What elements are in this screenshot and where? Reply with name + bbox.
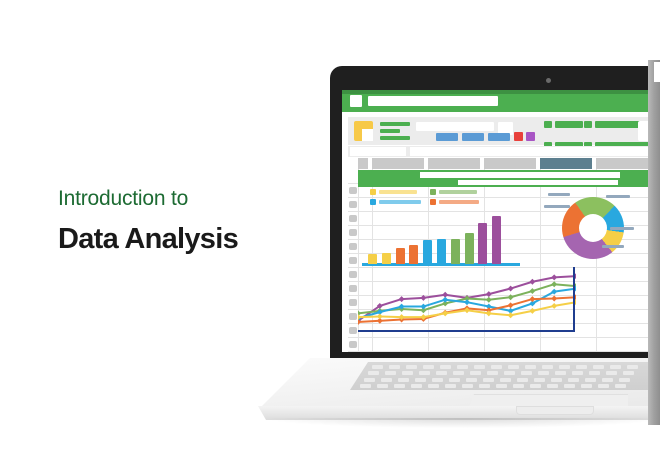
spreadsheet-app	[342, 90, 660, 352]
keyboard-key[interactable]	[517, 378, 528, 382]
keyboard-key[interactable]	[589, 371, 600, 375]
keyboard-key[interactable]	[538, 371, 549, 375]
bar	[409, 245, 418, 264]
right-crop-strip	[648, 60, 660, 425]
line-marker	[420, 295, 426, 301]
keyboard-key[interactable]	[496, 384, 507, 388]
sheet-title-text	[420, 172, 620, 178]
keyboard-key[interactable]	[470, 371, 481, 375]
keyboard-key[interactable]	[479, 384, 490, 388]
keyboard-key[interactable]	[436, 371, 447, 375]
right-crop-gap	[654, 62, 660, 82]
line-chart[interactable]	[358, 265, 578, 337]
line-marker	[486, 297, 492, 303]
keyboard-key[interactable]	[602, 378, 613, 382]
line-marker	[399, 296, 405, 302]
keyboard-key[interactable]	[419, 371, 430, 375]
keyboard-key[interactable]	[623, 371, 634, 375]
camera-dot-icon	[546, 78, 551, 83]
toolbar-chip-2[interactable]	[462, 133, 484, 141]
keyboard-key[interactable]	[627, 365, 638, 369]
legend-label	[379, 200, 421, 204]
line-marker	[529, 288, 535, 294]
keyboard-key[interactable]	[381, 378, 392, 382]
toolbar-swatch-red[interactable]	[514, 132, 523, 141]
bar-chart[interactable]	[362, 207, 522, 267]
keyboard-key[interactable]	[559, 365, 570, 369]
keyboard-key[interactable]	[445, 384, 456, 388]
line-marker	[529, 296, 535, 302]
keyboard-key[interactable]	[372, 365, 383, 369]
bar	[382, 253, 391, 264]
keyboard-key[interactable]	[568, 378, 579, 382]
laptop-screen	[342, 90, 660, 352]
line-marker	[442, 310, 448, 316]
line-marker	[529, 308, 535, 314]
device-shadow	[266, 418, 660, 428]
keyboard-key[interactable]	[500, 378, 511, 382]
formula-bar	[348, 146, 660, 157]
line-marker	[508, 286, 514, 292]
keyboard-key[interactable]	[364, 378, 375, 382]
titlebar-edge	[342, 90, 660, 94]
keyboard-key[interactable]	[547, 384, 558, 388]
legend-swatch	[370, 199, 376, 205]
keyboard-key[interactable]	[491, 365, 502, 369]
keyboard-key[interactable]	[432, 378, 443, 382]
keyboard-key[interactable]	[534, 378, 545, 382]
row-header-cell[interactable]	[349, 313, 357, 320]
keyboard-key[interactable]	[440, 365, 451, 369]
line-marker	[508, 312, 514, 318]
row-header-cell[interactable]	[349, 215, 357, 222]
column-header-cell[interactable]	[428, 158, 480, 169]
line-marker	[464, 299, 470, 305]
legend-label	[439, 190, 477, 194]
row-header-cell[interactable]	[349, 327, 357, 334]
legend-swatch	[430, 189, 436, 195]
keyboard-key[interactable]	[483, 378, 494, 382]
name-box-input[interactable]	[350, 147, 406, 156]
spreadsheet-grid[interactable]	[348, 169, 660, 352]
column-header-cell[interactable]	[596, 158, 648, 169]
bar	[451, 239, 460, 264]
bar	[492, 216, 501, 264]
keyboard-key[interactable]	[462, 384, 473, 388]
row-header-cell[interactable]	[349, 285, 357, 292]
keyboard-key[interactable]	[466, 378, 477, 382]
keyboard-key[interactable]	[525, 365, 536, 369]
laptop-base	[258, 358, 660, 428]
keyboard-key[interactable]	[551, 378, 562, 382]
bar	[396, 248, 405, 264]
keyboard-key[interactable]	[606, 371, 617, 375]
keyboard-key[interactable]	[415, 378, 426, 382]
keyboard-key[interactable]	[385, 371, 396, 375]
column-header-cell[interactable]	[484, 158, 536, 169]
keyboard-key[interactable]	[377, 384, 388, 388]
row-header-cell[interactable]	[349, 201, 357, 208]
column-header-selected[interactable]	[540, 158, 592, 169]
keyboard-key[interactable]	[406, 365, 417, 369]
keyboard-key[interactable]	[487, 371, 498, 375]
menu-lines-icon[interactable]	[380, 122, 410, 140]
line-marker	[508, 302, 514, 308]
column-header-cell[interactable]	[358, 158, 368, 169]
keyboard-key[interactable]	[581, 384, 592, 388]
toolbar-field-1[interactable]	[416, 122, 494, 131]
folder-icon[interactable]	[354, 121, 373, 141]
row-header-cell[interactable]	[349, 257, 357, 264]
keyboard-key[interactable]	[593, 365, 604, 369]
bar	[437, 239, 446, 264]
keyboard-key[interactable]	[360, 384, 371, 388]
row-header-cell[interactable]	[349, 271, 357, 278]
line-marker	[551, 281, 557, 287]
grid-row-line	[348, 351, 660, 352]
keyboard-key[interactable]	[542, 365, 553, 369]
line-marker	[551, 303, 557, 309]
keyboard-key[interactable]	[598, 384, 609, 388]
keyboard-key[interactable]	[530, 384, 541, 388]
keyboard-key[interactable]	[457, 365, 468, 369]
keyboard-key[interactable]	[402, 371, 413, 375]
donut-label-line	[544, 205, 570, 208]
donut-label-line	[548, 193, 570, 196]
toolbar-swatch-purple[interactable]	[526, 132, 535, 141]
donut-chart[interactable]	[544, 189, 634, 267]
row-header-cell[interactable]	[349, 229, 357, 236]
app-titlebar	[342, 90, 660, 112]
toolbar-chip-3[interactable]	[488, 133, 510, 141]
line-marker	[529, 279, 535, 285]
donut-hole	[579, 214, 607, 242]
toolbar-chip-1[interactable]	[436, 133, 458, 141]
line-marker	[486, 310, 492, 316]
keyboard-key[interactable]	[449, 378, 460, 382]
row-header-cell[interactable]	[349, 243, 357, 250]
column-header-row	[348, 158, 660, 169]
keyboard-key[interactable]	[389, 365, 400, 369]
formula-input[interactable]	[410, 147, 660, 156]
keyboard-key[interactable]	[619, 378, 630, 382]
chart-legend	[370, 189, 480, 207]
keyboard-key[interactable]	[453, 371, 464, 375]
row-header-cell[interactable]	[349, 299, 357, 306]
sheet-subtitle-text	[458, 180, 618, 185]
bar	[478, 223, 487, 264]
donut-label-line	[606, 195, 630, 198]
line-marker	[551, 274, 557, 280]
keyboard-key[interactable]	[474, 365, 485, 369]
keyboard-key[interactable]	[394, 384, 405, 388]
keyboard-key[interactable]	[368, 371, 379, 375]
bar	[465, 233, 474, 264]
bar	[423, 240, 432, 264]
legend-swatch	[370, 189, 376, 195]
column-header-cell[interactable]	[372, 158, 424, 169]
keyboard-key[interactable]	[572, 371, 583, 375]
keyboard-key[interactable]	[555, 371, 566, 375]
keyboard-key[interactable]	[576, 365, 587, 369]
app-square-icon[interactable]	[350, 95, 362, 107]
sheet-title-band	[358, 170, 660, 187]
keyboard-key[interactable]	[398, 378, 409, 382]
search-input[interactable]	[368, 96, 498, 106]
keyboard-key[interactable]	[411, 384, 422, 388]
keyboard-key[interactable]	[521, 371, 532, 375]
donut-label-line	[602, 245, 624, 248]
legend-label	[439, 200, 479, 204]
laptop-lid	[330, 66, 660, 362]
line-chart-svg	[358, 265, 576, 335]
keyboard-key[interactable]	[610, 365, 621, 369]
keyboard-key[interactable]	[428, 384, 439, 388]
line-marker	[486, 291, 492, 297]
line-marker	[551, 296, 557, 302]
latch-notch	[516, 406, 594, 415]
line-marker	[508, 294, 514, 300]
legend-swatch	[430, 199, 436, 205]
keyboard-key[interactable]	[513, 384, 524, 388]
legend-label	[379, 190, 417, 194]
keyboard-key[interactable]	[615, 384, 626, 388]
line-marker	[442, 297, 448, 303]
keyboard-key[interactable]	[564, 384, 575, 388]
keyboard-key[interactable]	[585, 378, 596, 382]
row-header-cell[interactable]	[349, 187, 357, 194]
donut-label-line	[610, 227, 634, 230]
laptop-device	[258, 58, 660, 428]
keyboard-key[interactable]	[423, 365, 434, 369]
bar	[368, 254, 377, 264]
row-header-column[interactable]	[348, 169, 358, 352]
keyboard[interactable]	[350, 362, 650, 390]
poster-canvas: Introduction to Data Analysis	[0, 0, 660, 459]
line-marker	[377, 313, 383, 319]
row-header-cell[interactable]	[349, 341, 357, 348]
grid-row-line	[348, 337, 660, 338]
keyboard-key[interactable]	[508, 365, 519, 369]
app-toolbar	[348, 117, 660, 145]
keyboard-key[interactable]	[504, 371, 515, 375]
